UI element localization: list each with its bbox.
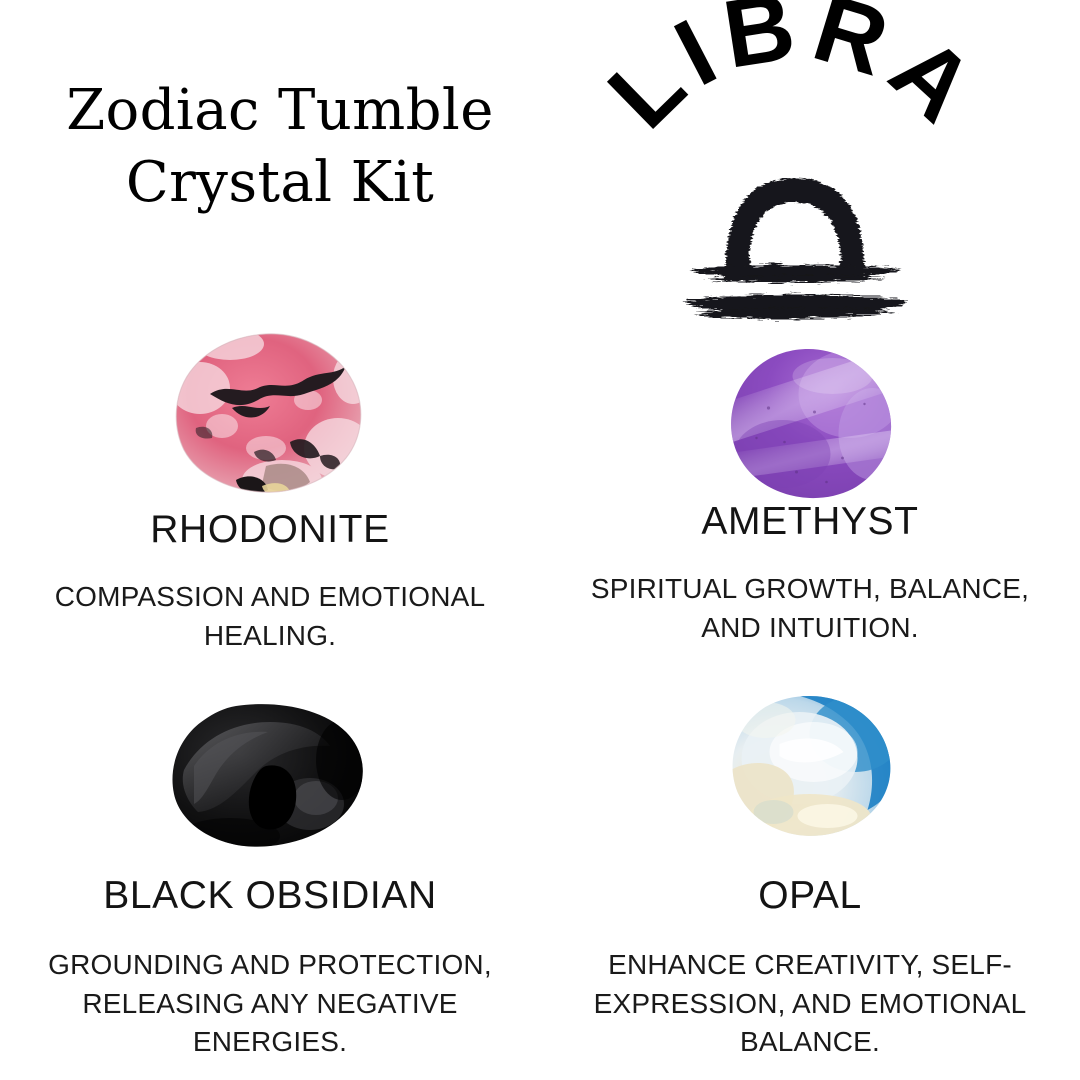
rhodonite-stone-image bbox=[170, 330, 370, 500]
libra-symbol-icon bbox=[685, 178, 907, 319]
stone-description: ENHANCE CREATIVITY, SELF-EXPRESSION, AND… bbox=[585, 946, 1035, 1062]
stone-image-wrap bbox=[0, 320, 540, 500]
stone-image-wrap bbox=[540, 680, 1080, 860]
stone-name: AMETHYST bbox=[540, 500, 1080, 544]
stone-card-amethyst: AMETHYST SPIRITUAL GROWTH, BALANCE, AND … bbox=[540, 320, 1080, 647]
title-line-1: Zodiac Tumble bbox=[0, 75, 560, 147]
zodiac-badge: LIBRA bbox=[585, 18, 1005, 308]
product-graphic: Zodiac Tumble Crystal Kit LIBRA bbox=[0, 0, 1080, 1080]
stone-description: GROUNDING AND PROTECTION, RELEASING ANY … bbox=[45, 946, 495, 1062]
stone-description: SPIRITUAL GROWTH, BALANCE, AND INTUITION… bbox=[585, 570, 1035, 647]
stone-name: OPAL bbox=[540, 874, 1080, 918]
stone-image-wrap bbox=[0, 680, 540, 860]
stone-card-black-obsidian: BLACK OBSIDIAN GROUNDING AND PROTECTION,… bbox=[0, 680, 540, 1062]
stone-name: BLACK OBSIDIAN bbox=[0, 874, 540, 918]
stone-name: RHODONITE bbox=[0, 508, 540, 552]
zodiac-sign-label: LIBRA bbox=[588, 0, 1000, 148]
stone-card-rhodonite: RHODONITE COMPASSION AND EMOTIONAL HEALI… bbox=[0, 320, 540, 655]
stone-description: COMPASSION AND EMOTIONAL HEALING. bbox=[45, 578, 495, 655]
title-line-2: Crystal Kit bbox=[0, 147, 560, 219]
page-title: Zodiac Tumble Crystal Kit bbox=[0, 75, 560, 218]
amethyst-stone-image bbox=[723, 346, 898, 501]
opal-stone-image bbox=[728, 694, 893, 839]
stone-card-opal: OPAL ENHANCE CREATIVITY, SELF-EXPRESSION… bbox=[540, 680, 1080, 1062]
stone-image-wrap bbox=[540, 320, 1080, 500]
black-obsidian-stone-image bbox=[170, 700, 370, 855]
